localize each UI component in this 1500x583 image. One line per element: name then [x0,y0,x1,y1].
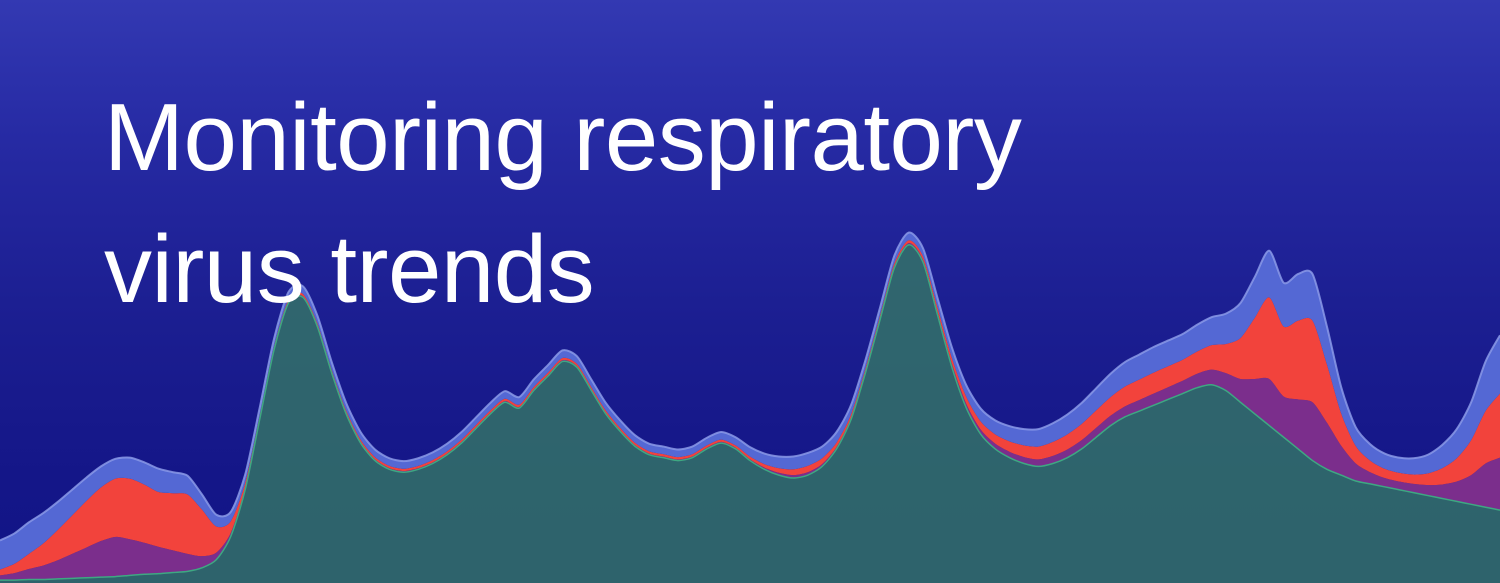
page-title: Monitoring respiratory virus trends [104,72,1284,337]
title-line-2: virus trends [104,204,1284,336]
title-line-1: Monitoring respiratory [104,72,1284,204]
hero-banner: Monitoring respiratory virus trends [0,0,1500,583]
